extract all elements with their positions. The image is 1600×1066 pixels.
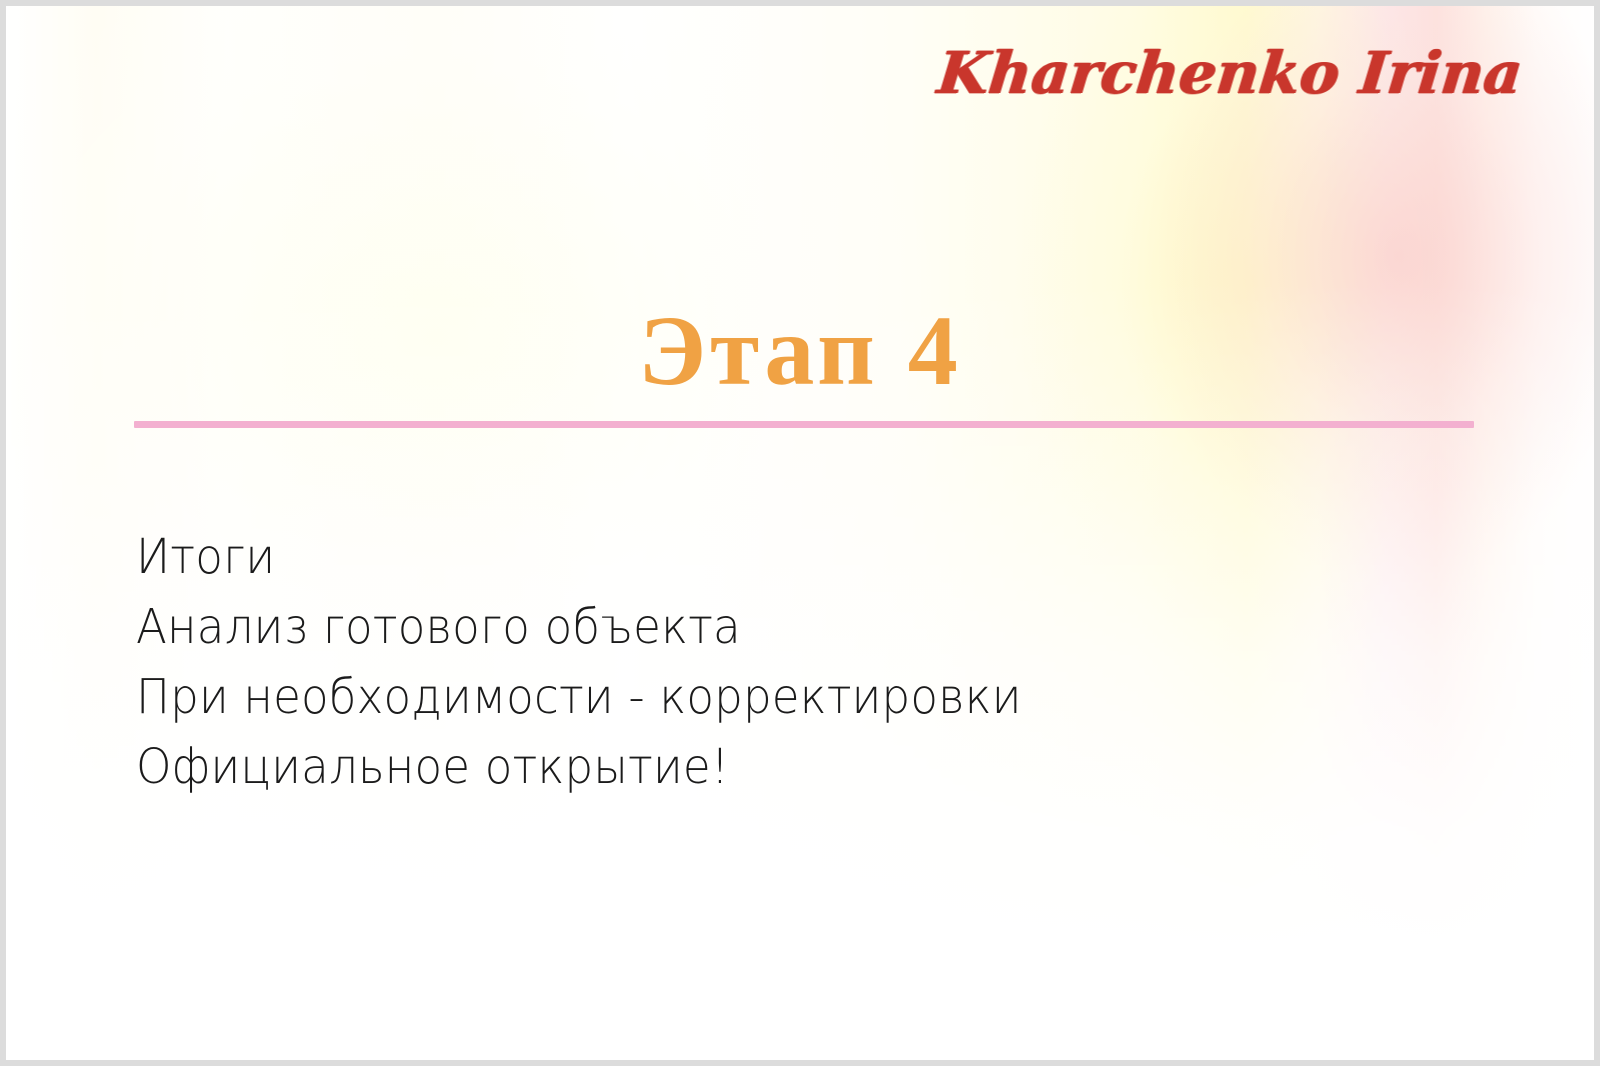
body-text-block: Итоги Анализ готового объекта При необхо… — [136, 522, 1436, 802]
body-line: Официальное открытие! — [136, 732, 1358, 802]
brand-logo: Kharchenko Irina — [935, 44, 1525, 102]
body-line: Анализ готового объекта — [136, 592, 1358, 662]
body-line: При необходимости - корректировки — [136, 662, 1358, 732]
page-title: Этап 4 — [6, 298, 1594, 404]
title-divider — [134, 421, 1474, 428]
presentation-slide: Kharchenko Irina Этап 4 Итоги Анализ гот… — [0, 0, 1600, 1066]
body-line: Итоги — [136, 522, 1358, 592]
